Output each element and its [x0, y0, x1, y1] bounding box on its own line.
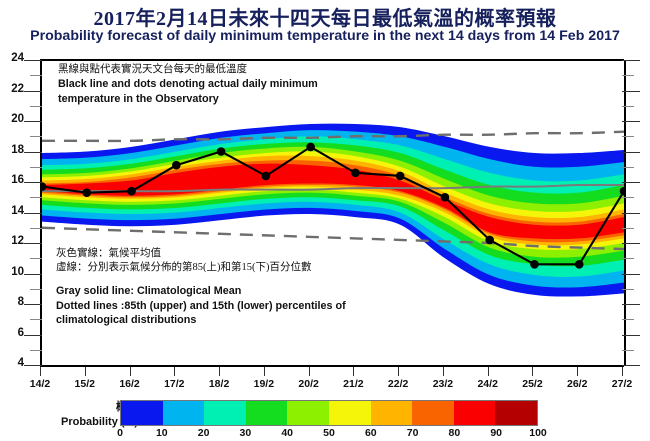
y-axis-label: 16 — [0, 174, 24, 186]
y-tick-major-right — [622, 121, 640, 122]
y-axis-label: 10 — [0, 266, 24, 278]
observed-data-point — [485, 236, 494, 245]
colorbar-swatch-10 — [163, 401, 205, 425]
y-tick-minor — [30, 136, 42, 137]
x-tick — [622, 367, 623, 376]
colorbar-swatch-40 — [287, 401, 329, 425]
y-tick-minor — [30, 258, 42, 259]
x-tick — [532, 367, 533, 376]
x-tick — [174, 367, 175, 376]
observed-data-point — [262, 172, 271, 181]
annotation-bottom-en-line1: Gray solid line: Climatological Mean — [56, 284, 346, 299]
y-tick-minor-right — [622, 289, 634, 290]
y-tick-major-right — [622, 152, 640, 153]
colorbar-swatch-50 — [329, 401, 371, 425]
y-tick-minor-right — [622, 258, 634, 259]
x-tick — [488, 367, 489, 376]
colorbar-tick-label: 80 — [439, 427, 469, 439]
colorbar-tick-label: 70 — [398, 427, 428, 439]
observed-data-point — [172, 161, 181, 170]
y-tick-major-right — [622, 274, 640, 275]
colorbar-tick-label: 0 — [105, 427, 135, 439]
x-axis-label: 14/2 — [17, 378, 63, 390]
y-tick-major — [24, 121, 42, 122]
percentile-15-line — [42, 228, 624, 249]
y-tick-minor — [30, 228, 42, 229]
observed-data-point — [620, 187, 624, 196]
y-tick-minor-right — [622, 228, 634, 229]
y-tick-major — [24, 60, 42, 61]
annotation-top-en-line1: Black line and dots denoting actual dail… — [58, 77, 318, 92]
chart-page: 2017年2月14日未來十四天每日最低氣溫的概率預報 Probability f… — [0, 0, 650, 440]
y-tick-major-right — [622, 182, 640, 183]
y-tick-major — [24, 243, 42, 244]
x-tick — [309, 367, 310, 376]
observed-data-point — [530, 260, 539, 269]
colorbar-swatch-20 — [204, 401, 246, 425]
annotation-top: 黑線與點代表實況天文台每天的最低溫度 Black line and dots d… — [58, 63, 318, 106]
x-tick — [130, 367, 131, 376]
y-tick-minor — [30, 197, 42, 198]
x-axis-label: 19/2 — [241, 378, 287, 390]
y-axis-label: 6 — [0, 327, 24, 339]
x-axis-label: 23/2 — [420, 378, 466, 390]
y-tick-major-right — [622, 91, 640, 92]
colorbar-tick-label: 50 — [314, 427, 344, 439]
y-tick-major — [24, 274, 42, 275]
y-tick-minor — [30, 289, 42, 290]
y-tick-minor — [30, 350, 42, 351]
page-title-english: Probability forecast of daily minimum te… — [0, 28, 650, 44]
x-tick — [40, 367, 41, 376]
y-axis-label: 4 — [0, 357, 24, 369]
x-tick — [264, 367, 265, 376]
observed-data-point — [217, 147, 226, 156]
y-axis-label: 24 — [0, 52, 24, 64]
observed-data-point — [306, 143, 315, 152]
y-tick-major-right — [622, 335, 640, 336]
y-tick-minor — [30, 75, 42, 76]
colorbar — [120, 400, 538, 426]
y-tick-major — [24, 182, 42, 183]
y-tick-minor — [30, 319, 42, 320]
colorbar-tick-label: 30 — [230, 427, 260, 439]
observed-data-point — [42, 182, 46, 191]
y-tick-minor — [30, 106, 42, 107]
x-axis-label: 22/2 — [375, 378, 421, 390]
x-tick — [398, 367, 399, 376]
x-axis-label: 16/2 — [107, 378, 153, 390]
x-tick — [219, 367, 220, 376]
observed-data-point — [575, 260, 584, 269]
colorbar-tick-label: 10 — [147, 427, 177, 439]
x-tick — [353, 367, 354, 376]
annotation-bottom: 灰色實線：氣候平均值 虛線：分別表示氣候分佈的第85(上)和第15(下)百分位數… — [56, 247, 346, 328]
colorbar-ticks: 0102030405060708090100 — [120, 427, 538, 441]
colorbar-swatch-90 — [495, 401, 537, 425]
y-tick-major — [24, 91, 42, 92]
x-tick — [577, 367, 578, 376]
y-tick-major — [24, 365, 42, 366]
y-axis-label: 8 — [0, 296, 24, 308]
x-axis-label: 18/2 — [196, 378, 242, 390]
x-axis-label: 27/2 — [599, 378, 645, 390]
observed-data-point — [351, 169, 360, 178]
colorbar-swatch-30 — [246, 401, 288, 425]
observed-data-point — [82, 188, 91, 197]
colorbar-swatch-60 — [371, 401, 413, 425]
x-axis-label: 25/2 — [509, 378, 555, 390]
plot-bottom-border — [40, 365, 624, 367]
y-axis-label: 22 — [0, 83, 24, 95]
y-tick-major — [24, 152, 42, 153]
y-tick-major-right — [622, 365, 640, 366]
y-tick-major-right — [622, 304, 640, 305]
y-tick-major — [24, 335, 42, 336]
y-axis-label: 12 — [0, 235, 24, 247]
x-axis-label: 20/2 — [286, 378, 332, 390]
y-tick-major-right — [622, 213, 640, 214]
annotation-bottom-zh-line2: 虛線：分別表示氣候分佈的第85(上)和第15(下)百分位數 — [56, 261, 346, 275]
annotation-bottom-zh-line1: 灰色實線：氣候平均值 — [56, 247, 346, 261]
x-axis-label: 24/2 — [465, 378, 511, 390]
y-axis-label: 18 — [0, 144, 24, 156]
x-axis-label: 21/2 — [330, 378, 376, 390]
y-axis-label: 14 — [0, 205, 24, 217]
x-tick — [443, 367, 444, 376]
colorbar-swatch-70 — [412, 401, 454, 425]
x-axis-label: 17/2 — [151, 378, 197, 390]
y-tick-minor-right — [622, 350, 634, 351]
y-tick-major-right — [622, 243, 640, 244]
y-tick-minor-right — [622, 106, 634, 107]
y-tick-minor-right — [622, 136, 634, 137]
y-tick-minor-right — [622, 167, 634, 168]
y-tick-minor-right — [622, 319, 634, 320]
colorbar-tick-label: 20 — [189, 427, 219, 439]
observed-data-point — [127, 187, 136, 196]
y-tick-minor-right — [622, 197, 634, 198]
x-axis-label: 15/2 — [62, 378, 108, 390]
x-tick — [85, 367, 86, 376]
y-axis-label: 20 — [0, 113, 24, 125]
colorbar-swatch-80 — [454, 401, 496, 425]
annotation-bottom-en-line3: climatological distributions — [56, 313, 346, 328]
colorbar-swatch-0 — [121, 401, 163, 425]
percentile-85-line — [42, 132, 624, 141]
page-title-chinese: 2017年2月14日未來十四天每日最低氣溫的概率預報 — [0, 2, 650, 31]
annotation-top-zh: 黑線與點代表實況天文台每天的最低溫度 — [58, 63, 318, 77]
colorbar-tick-label: 90 — [481, 427, 511, 439]
y-tick-major — [24, 213, 42, 214]
annotation-bottom-en-line2: Dotted lines :85th (upper) and 15th (low… — [56, 299, 346, 314]
observed-data-point — [441, 193, 450, 202]
annotation-top-en-line2: temperature in the Observatory — [58, 92, 318, 107]
colorbar-tick-label: 100 — [523, 427, 553, 439]
y-tick-major — [24, 304, 42, 305]
y-tick-major-right — [622, 60, 640, 61]
colorbar-tick-label: 60 — [356, 427, 386, 439]
y-tick-minor-right — [622, 75, 634, 76]
colorbar-tick-label: 40 — [272, 427, 302, 439]
observed-data-point — [396, 172, 405, 181]
y-tick-minor — [30, 167, 42, 168]
x-axis-label: 26/2 — [554, 378, 600, 390]
